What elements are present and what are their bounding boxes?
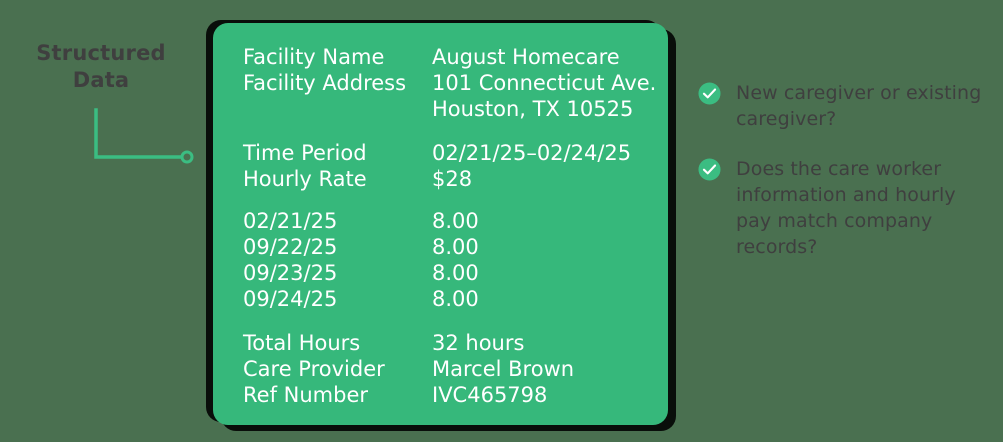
field-label: 09/24/25 bbox=[243, 286, 432, 312]
field-label: 09/23/25 bbox=[243, 260, 432, 286]
field-value: Marcel Brown bbox=[432, 356, 654, 382]
field-value: 32 hours bbox=[432, 330, 654, 356]
check-circle-icon bbox=[698, 82, 721, 105]
field-hourly-rate: Hourly Rate $28 bbox=[243, 166, 654, 192]
field-value: 8.00 bbox=[432, 260, 654, 286]
field-day-entry-3: 09/23/25 8.00 bbox=[243, 260, 654, 286]
field-day-entry-2: 09/22/25 8.00 bbox=[243, 234, 654, 260]
field-label: 09/22/25 bbox=[243, 234, 432, 260]
verification-note-text: New caregiver or existing caregiver? bbox=[736, 80, 993, 132]
field-label: Hourly Rate bbox=[243, 166, 432, 192]
spacer bbox=[243, 312, 654, 330]
field-label: 02/21/25 bbox=[243, 208, 432, 234]
field-value: 8.00 bbox=[432, 234, 654, 260]
field-value: IVC465798 bbox=[432, 382, 654, 408]
field-value: 8.00 bbox=[432, 286, 654, 312]
verification-note-text: Does the care worker information and hou… bbox=[736, 156, 993, 260]
field-label: Care Provider bbox=[243, 356, 432, 382]
field-day-entry-4: 09/24/25 8.00 bbox=[243, 286, 654, 312]
structured-data-label-line1: Structured bbox=[18, 40, 184, 67]
field-value: August Homecare bbox=[432, 44, 654, 70]
field-value: 02/21/25–02/24/25 bbox=[432, 140, 654, 166]
field-value: Houston, TX 10525 bbox=[432, 96, 654, 122]
field-total-hours: Total Hours 32 hours bbox=[243, 330, 654, 356]
field-label: Ref Number bbox=[243, 382, 432, 408]
field-day-entry-1: 02/21/25 8.00 bbox=[243, 208, 654, 234]
connector-line bbox=[80, 100, 210, 175]
field-care-provider: Care Provider Marcel Brown bbox=[243, 356, 654, 382]
field-facility-address: Facility Address 101 Connecticut Ave. bbox=[243, 70, 654, 96]
field-label: Facility Address bbox=[243, 70, 432, 96]
field-time-period: Time Period 02/21/25–02/24/25 bbox=[243, 140, 654, 166]
field-label: Total Hours bbox=[243, 330, 432, 356]
field-facility-name: Facility Name August Homecare bbox=[243, 44, 654, 70]
check-circle-icon bbox=[698, 158, 721, 181]
verification-notes-list: New caregiver or existing caregiver? Doe… bbox=[698, 80, 993, 260]
field-value: 101 Connecticut Ave. bbox=[432, 70, 656, 96]
field-label: Facility Name bbox=[243, 44, 432, 70]
spacer bbox=[243, 122, 654, 140]
spacer bbox=[243, 192, 654, 208]
field-ref-number: Ref Number IVC465798 bbox=[243, 382, 654, 408]
diagram-canvas: Structured Data Facility Name August Hom… bbox=[0, 0, 1003, 442]
verification-note: New caregiver or existing caregiver? bbox=[698, 80, 993, 132]
field-value: 8.00 bbox=[432, 208, 654, 234]
card-field-list: Facility Name August Homecare Facility A… bbox=[243, 44, 654, 408]
field-facility-address-line2: Houston, TX 10525 bbox=[243, 96, 654, 122]
structured-data-card: Facility Name August Homecare Facility A… bbox=[213, 23, 668, 425]
structured-data-label: Structured Data bbox=[18, 40, 184, 94]
field-label: Time Period bbox=[243, 140, 432, 166]
field-value: $28 bbox=[432, 166, 654, 192]
verification-note: Does the care worker information and hou… bbox=[698, 156, 993, 260]
structured-data-label-line2: Data bbox=[18, 67, 184, 94]
